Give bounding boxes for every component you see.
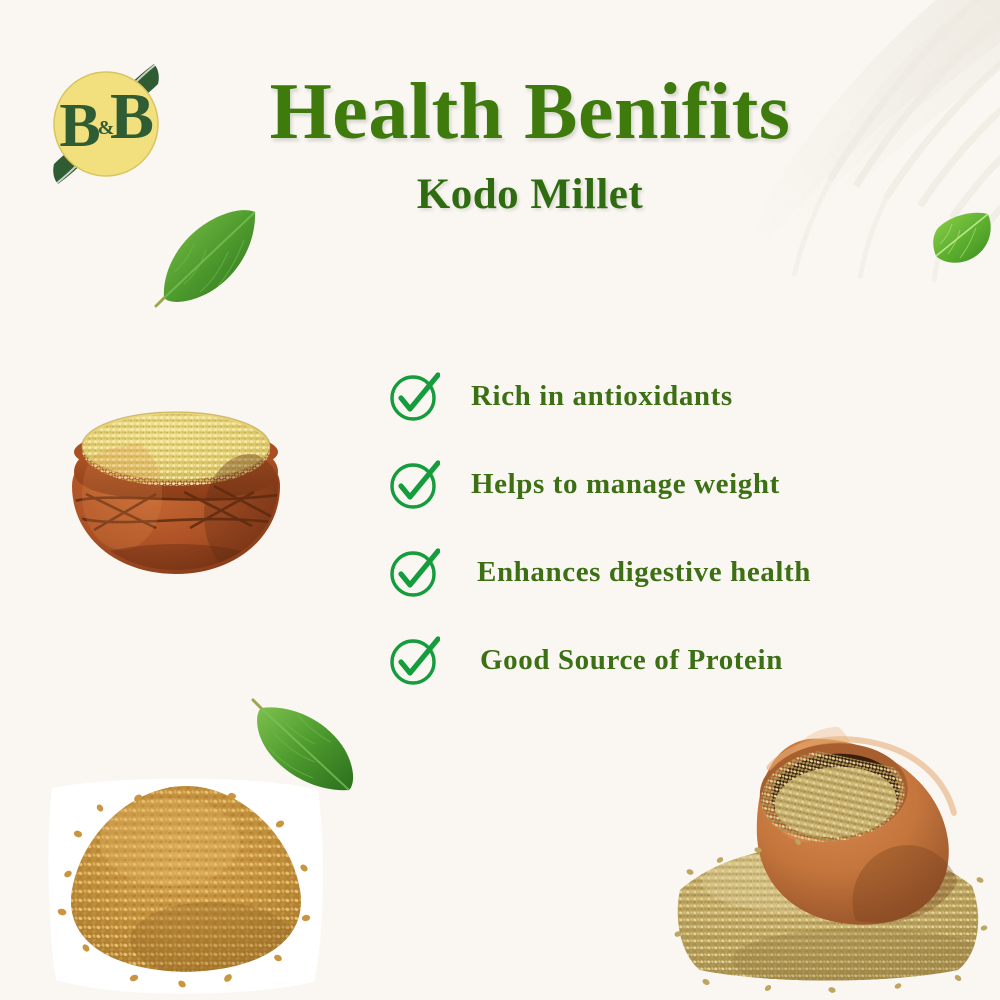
mint-leaf-icon: [924, 198, 1000, 274]
green-leaf-icon: [247, 692, 365, 800]
green-leaf-icon: [152, 202, 270, 310]
check-circle-icon: [388, 370, 440, 422]
clay-pot-with-millet-image: [64, 398, 288, 580]
list-item: Enhances digestive health: [388, 528, 948, 616]
list-item-label: Helps to manage weight: [471, 468, 780, 501]
check-circle-icon: [388, 634, 440, 686]
check-circle-icon: [388, 546, 440, 598]
header-block: Health Benifits Kodo Millet: [0, 72, 1000, 219]
page-title: Health Benifits: [60, 72, 1000, 154]
millet-grain-pile-image: [42, 772, 330, 1000]
benefits-list: Rich in antioxidants Helps to manage wei…: [388, 352, 948, 704]
list-item: Helps to manage weight: [388, 440, 948, 528]
list-item-label: Good Source of Protein: [480, 644, 783, 677]
check-circle-icon: [388, 458, 440, 510]
tilted-clay-pot-with-millet-image: [672, 722, 994, 1000]
list-item: Rich in antioxidants: [388, 352, 948, 440]
list-item-label: Enhances digestive health: [477, 556, 811, 589]
list-item: Good Source of Protein: [388, 616, 948, 704]
list-item-label: Rich in antioxidants: [471, 380, 733, 413]
